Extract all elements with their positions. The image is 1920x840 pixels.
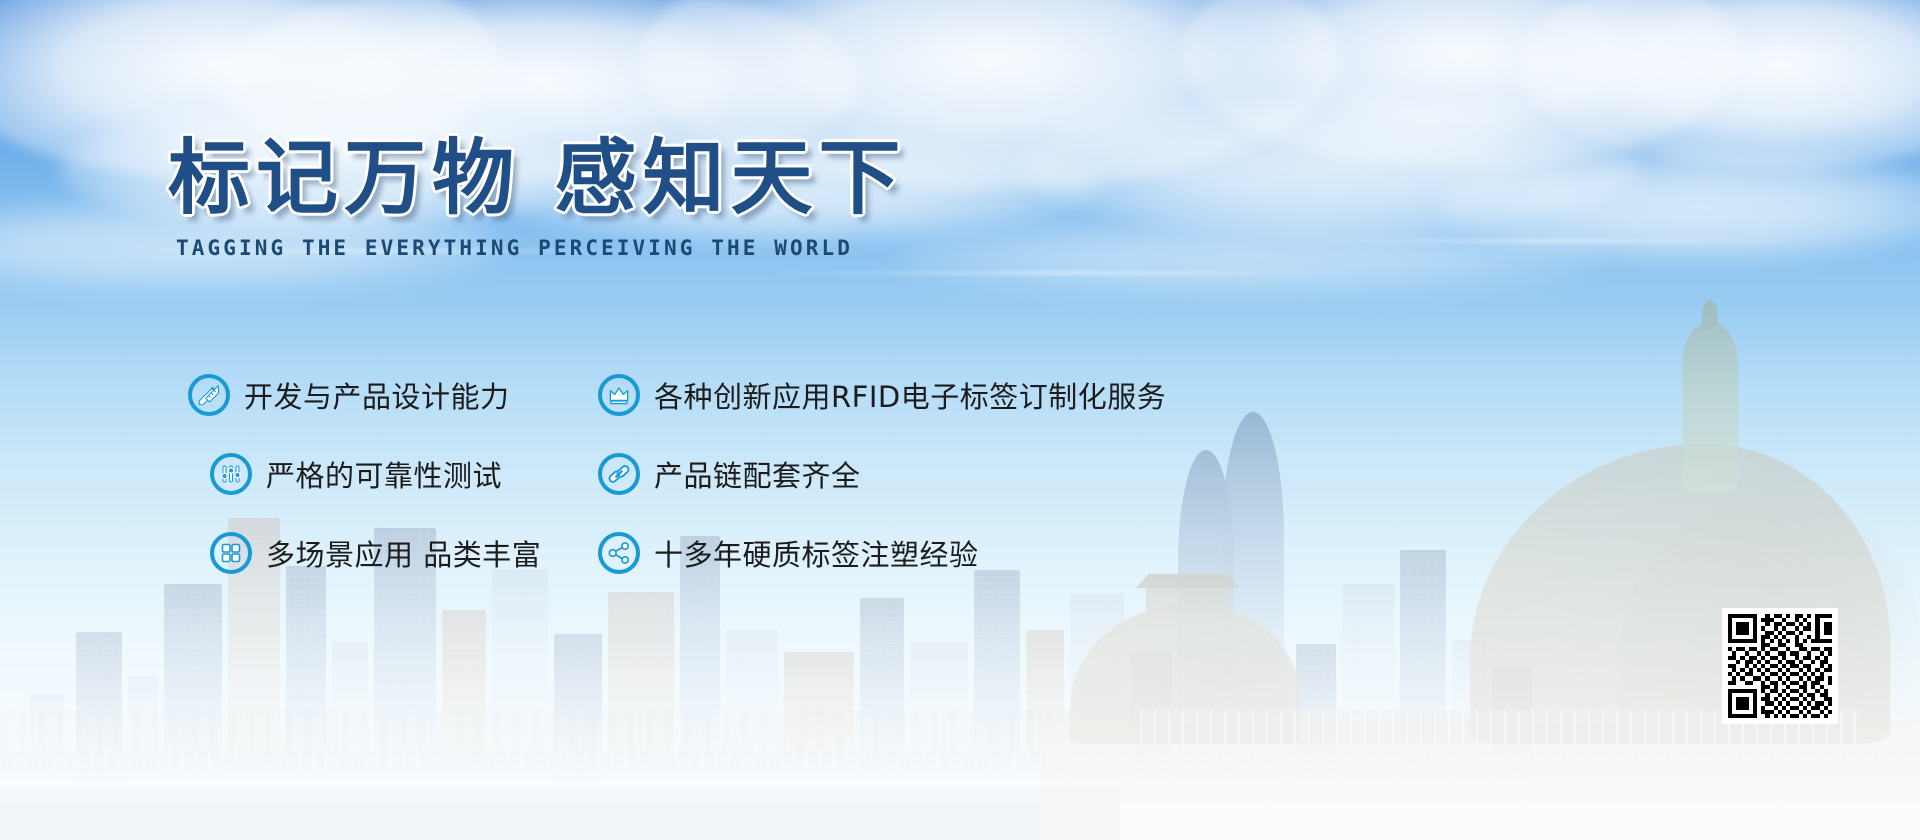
link-icon [598,453,640,495]
qr-code-matrix [1728,614,1832,718]
feature-label: 十多年硬质标签注塑经验 [654,532,979,574]
qr-code[interactable] [1722,608,1838,724]
cliff-statue [1682,322,1738,492]
feature-label: 产品链配套齐全 [654,453,861,495]
pavilion [1146,586,1230,628]
crown-icon [598,374,640,416]
sliders-icon [210,453,252,495]
feature-list: 开发与产品设计能力 各种创新应用RFID电子标签订制化服务 [188,355,1248,592]
feature-label: 各种创新应用RFID电子标签订制化服务 [654,374,1166,416]
feature-item: 开发与产品设计能力 [188,374,598,416]
feature-item: 产品链配套齐全 [598,453,1248,495]
water [0,788,1120,840]
feature-item: 严格的可靠性测试 [188,453,598,495]
feature-label: 开发与产品设计能力 [244,374,510,416]
page-subtitle: TAGGING THE EVERYTHING PERCEIVING THE WO… [176,236,907,260]
page-title: 标记万物 感知天下 [168,138,907,220]
cloud-streak [760,272,1380,274]
ruler-pencil-icon [188,374,230,416]
cloud-shape [900,215,1600,295]
grid-icon [210,532,252,574]
feature-label: 多场景应用 品类丰富 [266,532,541,574]
feature-item: 各种创新应用RFID电子标签订制化服务 [598,374,1248,416]
share-nodes-icon [598,532,640,574]
feature-item: 十多年硬质标签注塑经验 [598,532,1248,574]
feature-item: 多场景应用 品类丰富 [188,532,598,574]
headline-block: 标记万物 感知天下 TAGGING THE EVERYTHING PERCEIV… [168,138,907,260]
feature-label: 严格的可靠性测试 [266,453,502,495]
cloud-streak [1300,240,1820,242]
promo-banner: 标记万物 感知天下 TAGGING THE EVERYTHING PERCEIV… [0,0,1920,840]
